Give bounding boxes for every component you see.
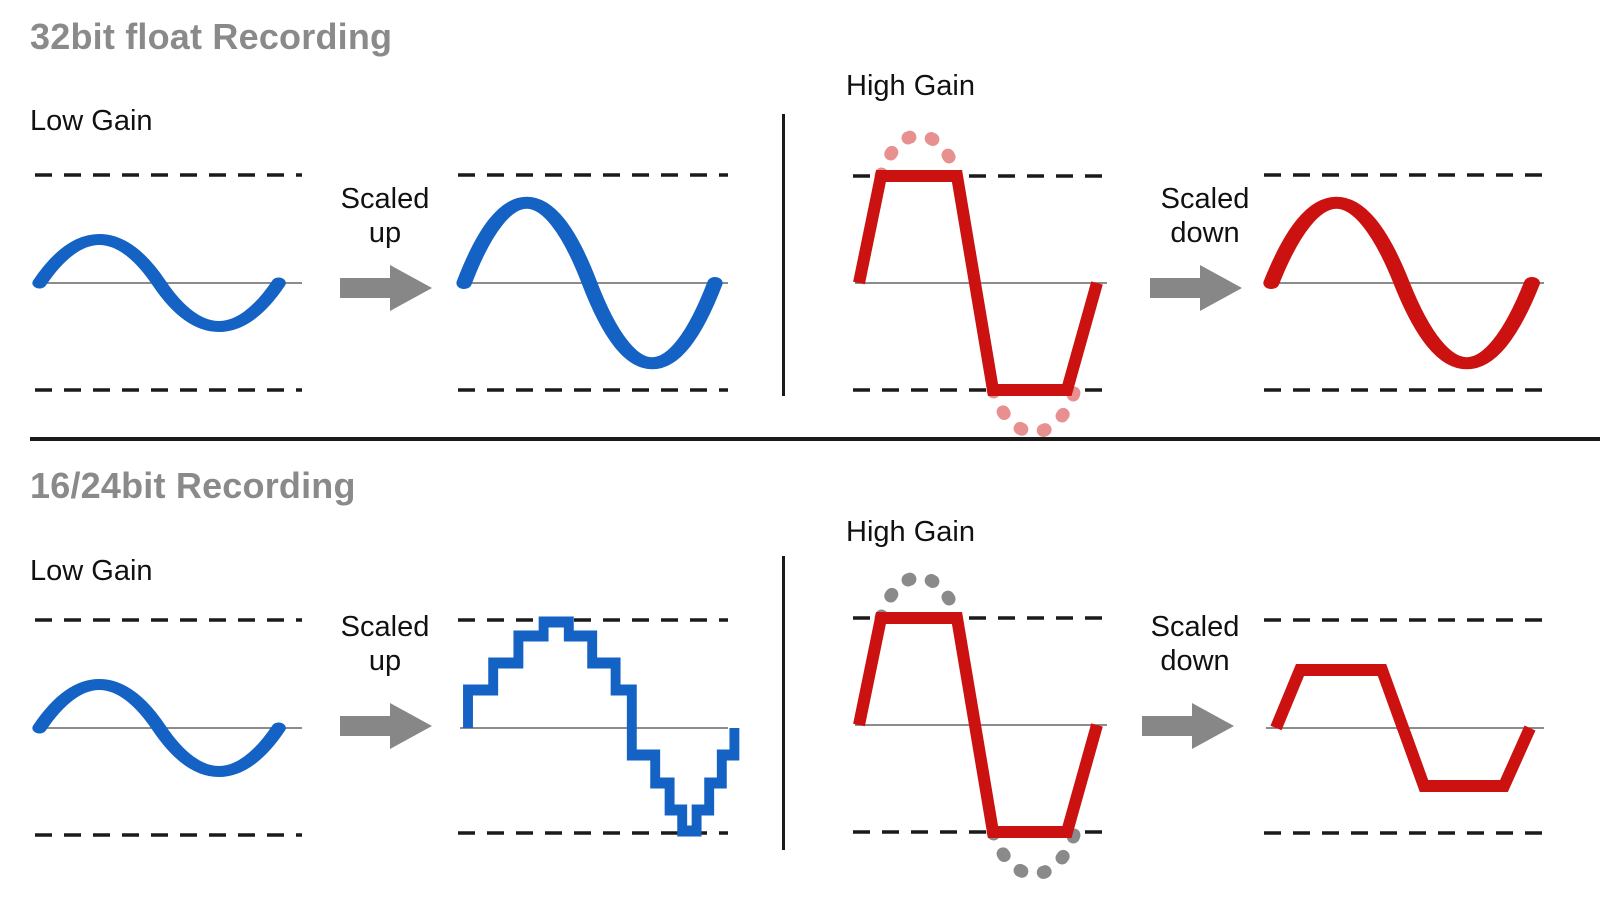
gray-dotted-overshoot-bottom-peak [881, 578, 957, 619]
diagram-canvas: 32bit float Recording Low Gain High Gain… [0, 0, 1600, 900]
label-scaled-down-top: Scaled down [1135, 182, 1275, 250]
label-scaled-up-bottom: Scaled up [325, 610, 445, 678]
waveform-panel-bottom-scaled-down [1258, 605, 1558, 850]
label-scaled-down-bottom: Scaled down [1125, 610, 1265, 678]
pink-dotted-overshoot-top-peak [881, 136, 957, 177]
arrow-right-icon-top-left [338, 262, 436, 314]
section-title-16-24bit: 16/24bit Recording [30, 465, 356, 507]
blue-staircase-quantized [468, 622, 734, 831]
label-high-gain-bottom: High Gain [846, 516, 975, 549]
label-low-gain-bottom: Low Gain [30, 555, 153, 588]
waveform-panel-bottom-high-gain [845, 560, 1115, 890]
arrow-right-icon-bottom-right [1140, 700, 1238, 752]
pink-dotted-overshoot-top-trough [993, 390, 1075, 432]
section-title-32bit-float: 32bit float Recording [30, 16, 392, 58]
waveform-panel-top-low-gain [20, 160, 310, 405]
waveform-panel-top-high-gain [845, 118, 1115, 433]
label-high-gain-top: High Gain [846, 70, 975, 103]
label-low-gain-top: Low Gain [30, 105, 153, 138]
section-divider-vertical-bottom [782, 556, 785, 850]
waveform-panel-top-scaled-up [450, 160, 740, 405]
waveform-panel-top-scaled-down [1258, 160, 1558, 405]
waveform-panel-bottom-low-gain [20, 605, 310, 850]
arrow-right-icon-top-right [1148, 262, 1246, 314]
label-scaled-up-top: Scaled up [325, 182, 445, 250]
waveform-panel-bottom-scaled-up-quantized [450, 605, 740, 850]
section-divider-horizontal [30, 437, 1600, 441]
section-divider-vertical-top [782, 114, 785, 396]
gray-dotted-overshoot-bottom-trough [993, 832, 1075, 874]
arrow-right-icon-bottom-left [338, 700, 436, 752]
